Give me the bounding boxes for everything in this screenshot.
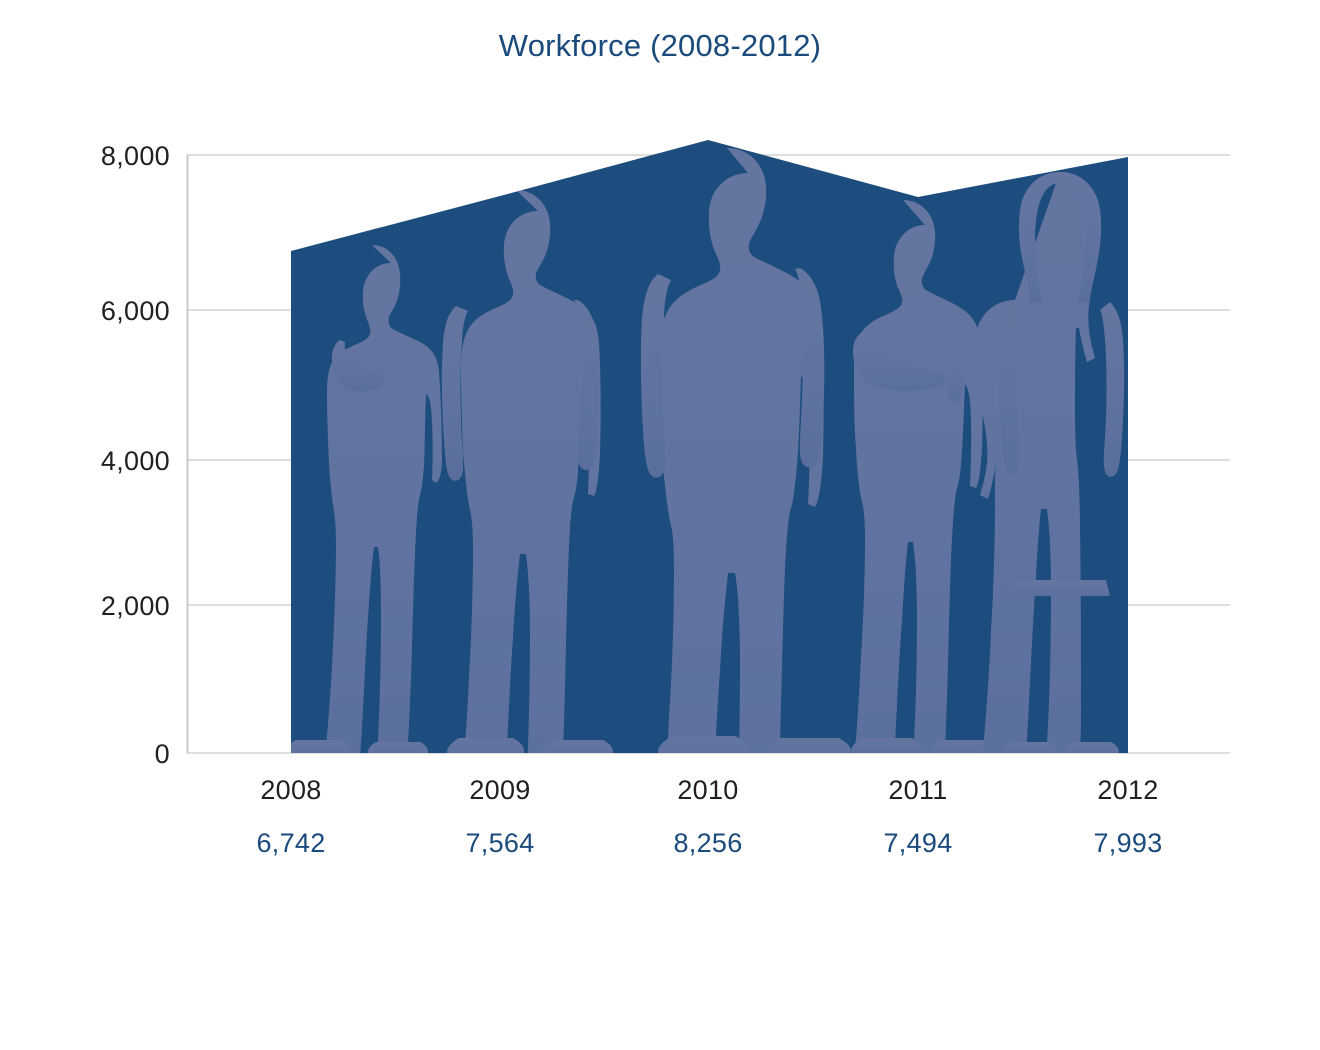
x-axis-tick-label: 2009 <box>410 775 590 806</box>
data-value-label: 8,256 <box>618 828 798 859</box>
y-axis-tick-label: 0 <box>20 739 170 770</box>
x-axis-tick-label: 2012 <box>1038 775 1218 806</box>
chart-plot-area <box>0 0 1320 1050</box>
y-axis-tick-label: 2,000 <box>20 591 170 622</box>
data-value-label: 7,564 <box>410 828 590 859</box>
y-axis-tick-label: 8,000 <box>20 141 170 172</box>
x-axis-tick-label: 2011 <box>828 775 1008 806</box>
x-axis-tick-label: 2010 <box>618 775 798 806</box>
x-axis-tick-label: 2008 <box>201 775 381 806</box>
data-value-label: 6,742 <box>201 828 381 859</box>
data-value-label: 7,494 <box>828 828 1008 859</box>
chart-container: Workforce (2008-2012) <box>0 0 1320 1050</box>
y-axis-tick-label: 4,000 <box>20 446 170 477</box>
y-axis-tick-label: 6,000 <box>20 296 170 327</box>
data-value-label: 7,993 <box>1038 828 1218 859</box>
